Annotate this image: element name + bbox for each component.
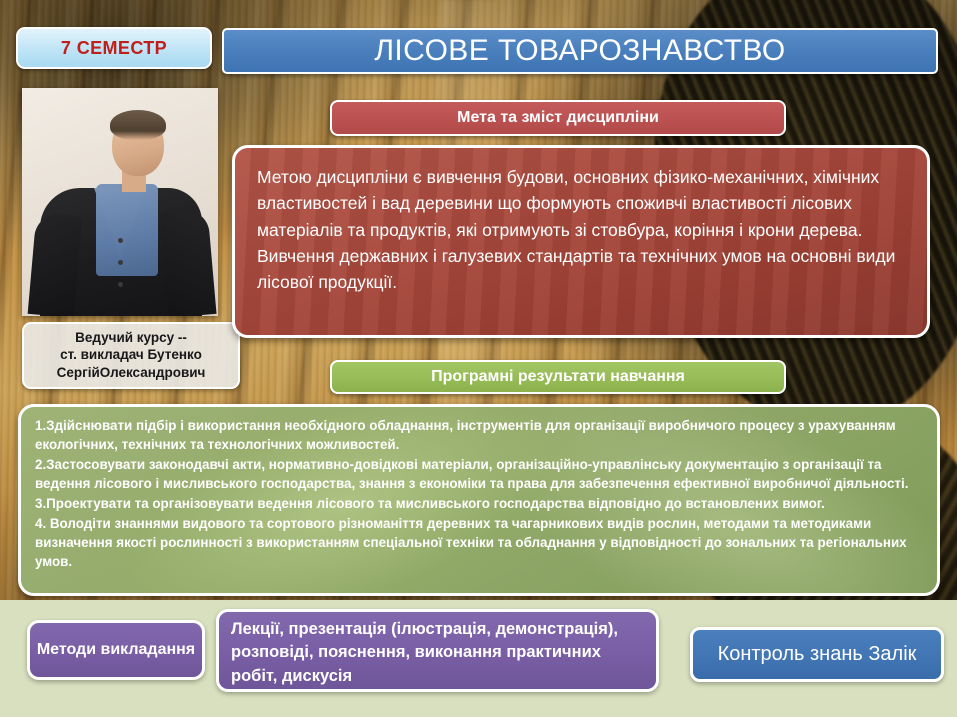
outcomes-list: 1.Здійснювати підбір і використання необ…: [21, 407, 937, 571]
instructor-role: Ведучий курсу --: [30, 329, 232, 346]
purpose-text: Метою дисципліни є вивчення будови, осно…: [257, 164, 907, 295]
photo-left-arm: [28, 212, 83, 316]
assessment-box: Контроль знань Залік: [690, 627, 944, 682]
photo-hair: [110, 110, 166, 140]
outcomes-card: 1.Здійснювати підбір і використання необ…: [18, 404, 940, 596]
bottom-band: Методи викладання Лекції, презентація (і…: [0, 600, 957, 717]
purpose-heading: Мета та зміст дисципліни: [330, 100, 786, 136]
outcomes-heading: Програмні результати навчання: [330, 360, 786, 394]
photo-cardigan-button: [118, 238, 123, 243]
photo-cardigan-button: [118, 260, 123, 265]
list-item: 3.Проектувати та організовувати ведення …: [35, 494, 925, 513]
teaching-methods-label: Методи викладання: [27, 620, 205, 680]
teaching-methods-card: Лекції, презентація (ілюстрація, демонст…: [216, 609, 659, 692]
list-item: 4. Володіти знаннями видового та сортово…: [35, 514, 925, 571]
instructor-name: СергійОлександрович: [30, 364, 232, 381]
purpose-card: Метою дисципліни є вивчення будови, осно…: [232, 145, 930, 338]
outcomes-heading-label: Програмні результати навчання: [431, 368, 685, 386]
purpose-heading-label: Мета та зміст дисципліни: [457, 109, 659, 127]
instructor-title: ст. викладач Бутенко: [30, 346, 232, 363]
teaching-methods-text: Лекції, презентація (ілюстрація, демонст…: [231, 618, 644, 688]
assessment-text: Контроль знань Залік: [718, 643, 917, 666]
instructor-photo: [22, 88, 218, 316]
photo-cardigan-button: [118, 282, 123, 287]
list-item: 1.Здійснювати підбір і використання необ…: [35, 416, 925, 454]
teaching-methods-label-text: Методи викладання: [37, 640, 195, 660]
semester-badge-label: 7 СЕМЕСТР: [61, 38, 167, 59]
page-title: ЛІСОВЕ ТОВАРОЗНАВСТВО: [374, 36, 785, 66]
course-title-bar: ЛІСОВЕ ТОВАРОЗНАВСТВО: [222, 28, 938, 74]
presentation-slide: 7 СЕМЕСТР ЛІСОВЕ ТОВАРОЗНАВСТВО Ведучий …: [0, 0, 957, 717]
semester-badge: 7 СЕМЕСТР: [16, 27, 212, 69]
instructor-caption: Ведучий курсу -- ст. викладач Бутенко Се…: [22, 322, 240, 389]
list-item: 2.Застосовувати законодавчі акти, нормат…: [35, 455, 925, 493]
